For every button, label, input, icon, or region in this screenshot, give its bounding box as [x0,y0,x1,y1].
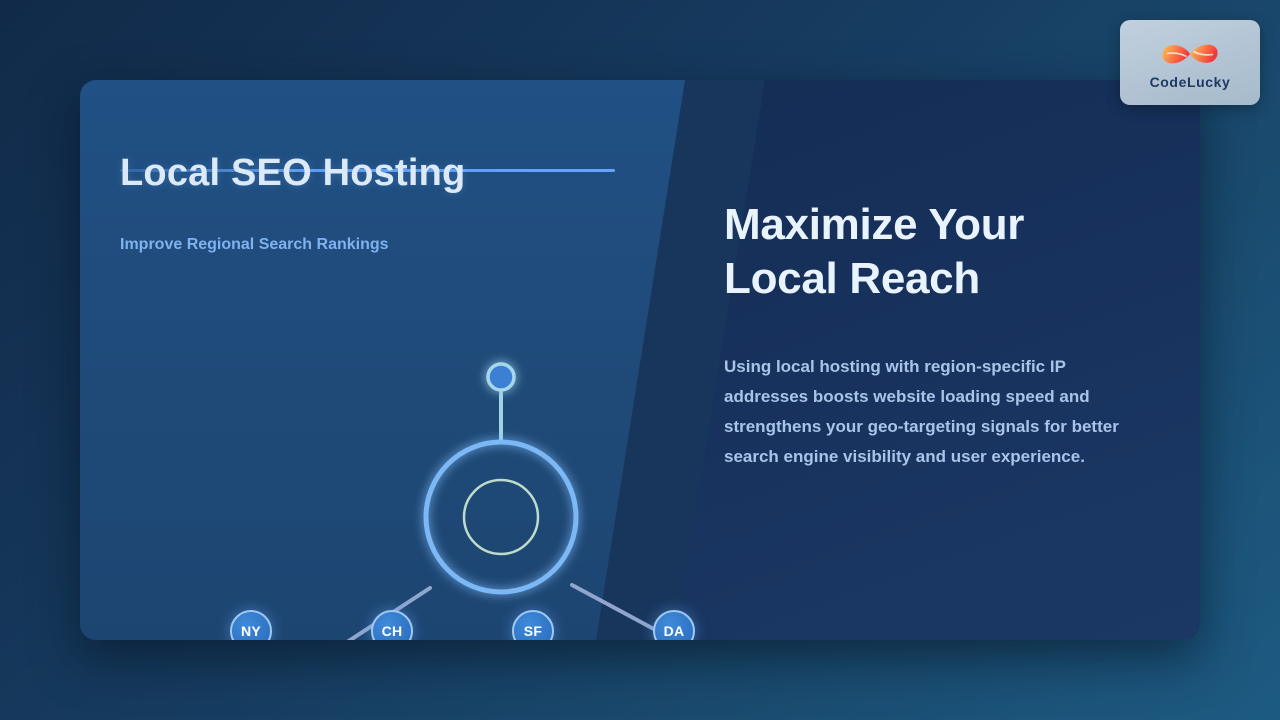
hub-node-icon [488,364,514,390]
headline-line-2: Local Reach [724,254,980,303]
slide-card: Local SEO Hosting Improve Regional Searc… [80,80,1200,640]
left-panel-content: Local SEO Hosting Improve Regional Searc… [120,80,680,640]
outer-ring [426,442,576,592]
city-badge-label: SF [524,623,543,639]
page-title: Local SEO Hosting [120,152,465,195]
logo-text: CodeLucky [1150,74,1231,90]
headline: Maximize YourLocal Reach [724,198,1024,306]
connector-line-right [572,585,665,635]
right-panel-content: Maximize YourLocal Reach Using local hos… [724,80,1154,640]
page-subtitle: Improve Regional Search Rankings [120,236,389,254]
title-block: Local SEO Hosting [120,152,680,208]
headline-line-1: Maximize Your [724,200,1024,249]
hosting-network-diagram [80,260,680,640]
city-badge-label: NY [241,623,261,639]
inner-ring [464,480,538,554]
body-paragraph: Using local hosting with region-specific… [724,352,1152,472]
infinity-leaf-icon [1154,36,1226,72]
logo-badge: CodeLucky [1120,20,1260,105]
city-badge-label: CH [382,623,403,639]
city-badge-label: DA [664,623,685,639]
